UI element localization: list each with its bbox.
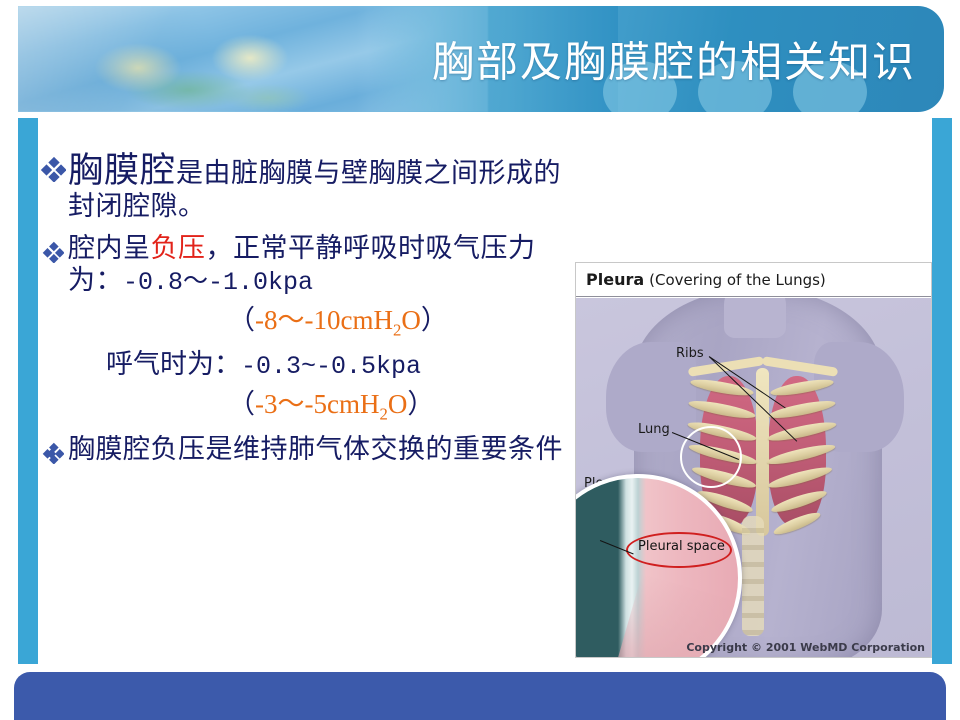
footer-bar — [14, 672, 946, 720]
bullet-3-text: 胸膜腔负压是维持肺气体交换的重要条件 — [68, 434, 568, 466]
right-accent-bar — [932, 118, 952, 664]
bullet-1-emphasis: 胸膜腔 — [68, 151, 176, 190]
diamond-cluster-bullet-icon — [38, 434, 68, 464]
figure-caption-main: Pleura — [586, 270, 644, 289]
slide-canvas: 胸部及胸膜腔的相关知识 胸膜腔是由脏胸膜与壁胸膜之间形成的封闭腔隙。 — [0, 0, 960, 720]
left-accent-bar — [18, 118, 38, 664]
header-banner: 胸部及胸膜腔的相关知识 — [18, 6, 944, 112]
bullet-item-1: 胸膜腔是由脏胸膜与壁胸膜之间形成的封闭腔隙。 — [38, 150, 568, 223]
exhale-line: 呼气时为：-0.3~-0.5kpa — [106, 348, 568, 382]
bullet-item-3: 胸膜腔负压是维持肺气体交换的重要条件 — [38, 434, 568, 466]
exhale-cmh2o-sub: 2 — [379, 404, 387, 423]
paren-close: ） — [421, 305, 448, 335]
label-lung: Lung — [638, 422, 670, 437]
figure-copyright: Copyright © 2001 WebMD Corporation — [686, 641, 925, 654]
label-ribs: Ribs — [676, 346, 704, 361]
slide-title: 胸部及胸膜腔的相关知识 — [432, 29, 916, 90]
bullet-2-lead: 腔内呈 — [68, 233, 151, 263]
figure-caption: Pleura (Covering of the Lungs) — [576, 263, 931, 297]
exhale-cmh2o-value: -3～-5cmH — [255, 389, 379, 419]
exhale-cmh2o-tail: O — [388, 389, 408, 419]
bullet-2-value: -0.8～-1.0kpa — [123, 268, 313, 297]
spine — [742, 516, 764, 636]
paren-open: （ — [228, 305, 255, 335]
inhale-cmh2o-line: （-8～-10cmH2O） — [228, 304, 568, 340]
bullet-2-highlight: 负压 — [151, 233, 206, 263]
paren-open: （ — [228, 389, 255, 419]
figure-illustration: Ribs Lung Pleura Pleural space Copyright… — [576, 298, 931, 657]
paren-close: ） — [407, 389, 434, 419]
neck-shape — [724, 298, 786, 338]
exhale-label: 呼气时为： — [106, 349, 241, 379]
label-pleural-space: Pleural space — [638, 539, 725, 554]
figure-caption-sub: (Covering of the Lungs) — [649, 271, 826, 289]
inhale-cmh2o-tail: O — [401, 305, 421, 335]
exhale-value: -0.3~-0.5kpa — [241, 352, 421, 381]
right-clavicle — [762, 356, 838, 377]
diamond-cluster-bullet-icon — [38, 233, 68, 263]
inhale-cmh2o-value: -8～-10cmH — [255, 305, 393, 335]
bullet-2-text: 腔内呈负压，正常平静呼吸时吸气压力为：-0.8～-1.0kpa — [68, 233, 568, 297]
pleura-figure: Pleura (Covering of the Lungs) — [575, 262, 932, 658]
slide-body: 胸膜腔是由脏胸膜与壁胸膜之间形成的封闭腔隙。 腔内呈负压，正常平静呼吸时吸气压力… — [38, 150, 568, 468]
exhale-cmh2o-line: （-3～-5cmH2O） — [228, 388, 568, 424]
bullet-item-2: 腔内呈负压，正常平静呼吸时吸气压力为：-0.8～-1.0kpa — [38, 233, 568, 297]
bullet-1-text: 胸膜腔是由脏胸膜与壁胸膜之间形成的封闭腔隙。 — [68, 150, 568, 223]
diamond-cluster-bullet-icon — [38, 150, 68, 182]
